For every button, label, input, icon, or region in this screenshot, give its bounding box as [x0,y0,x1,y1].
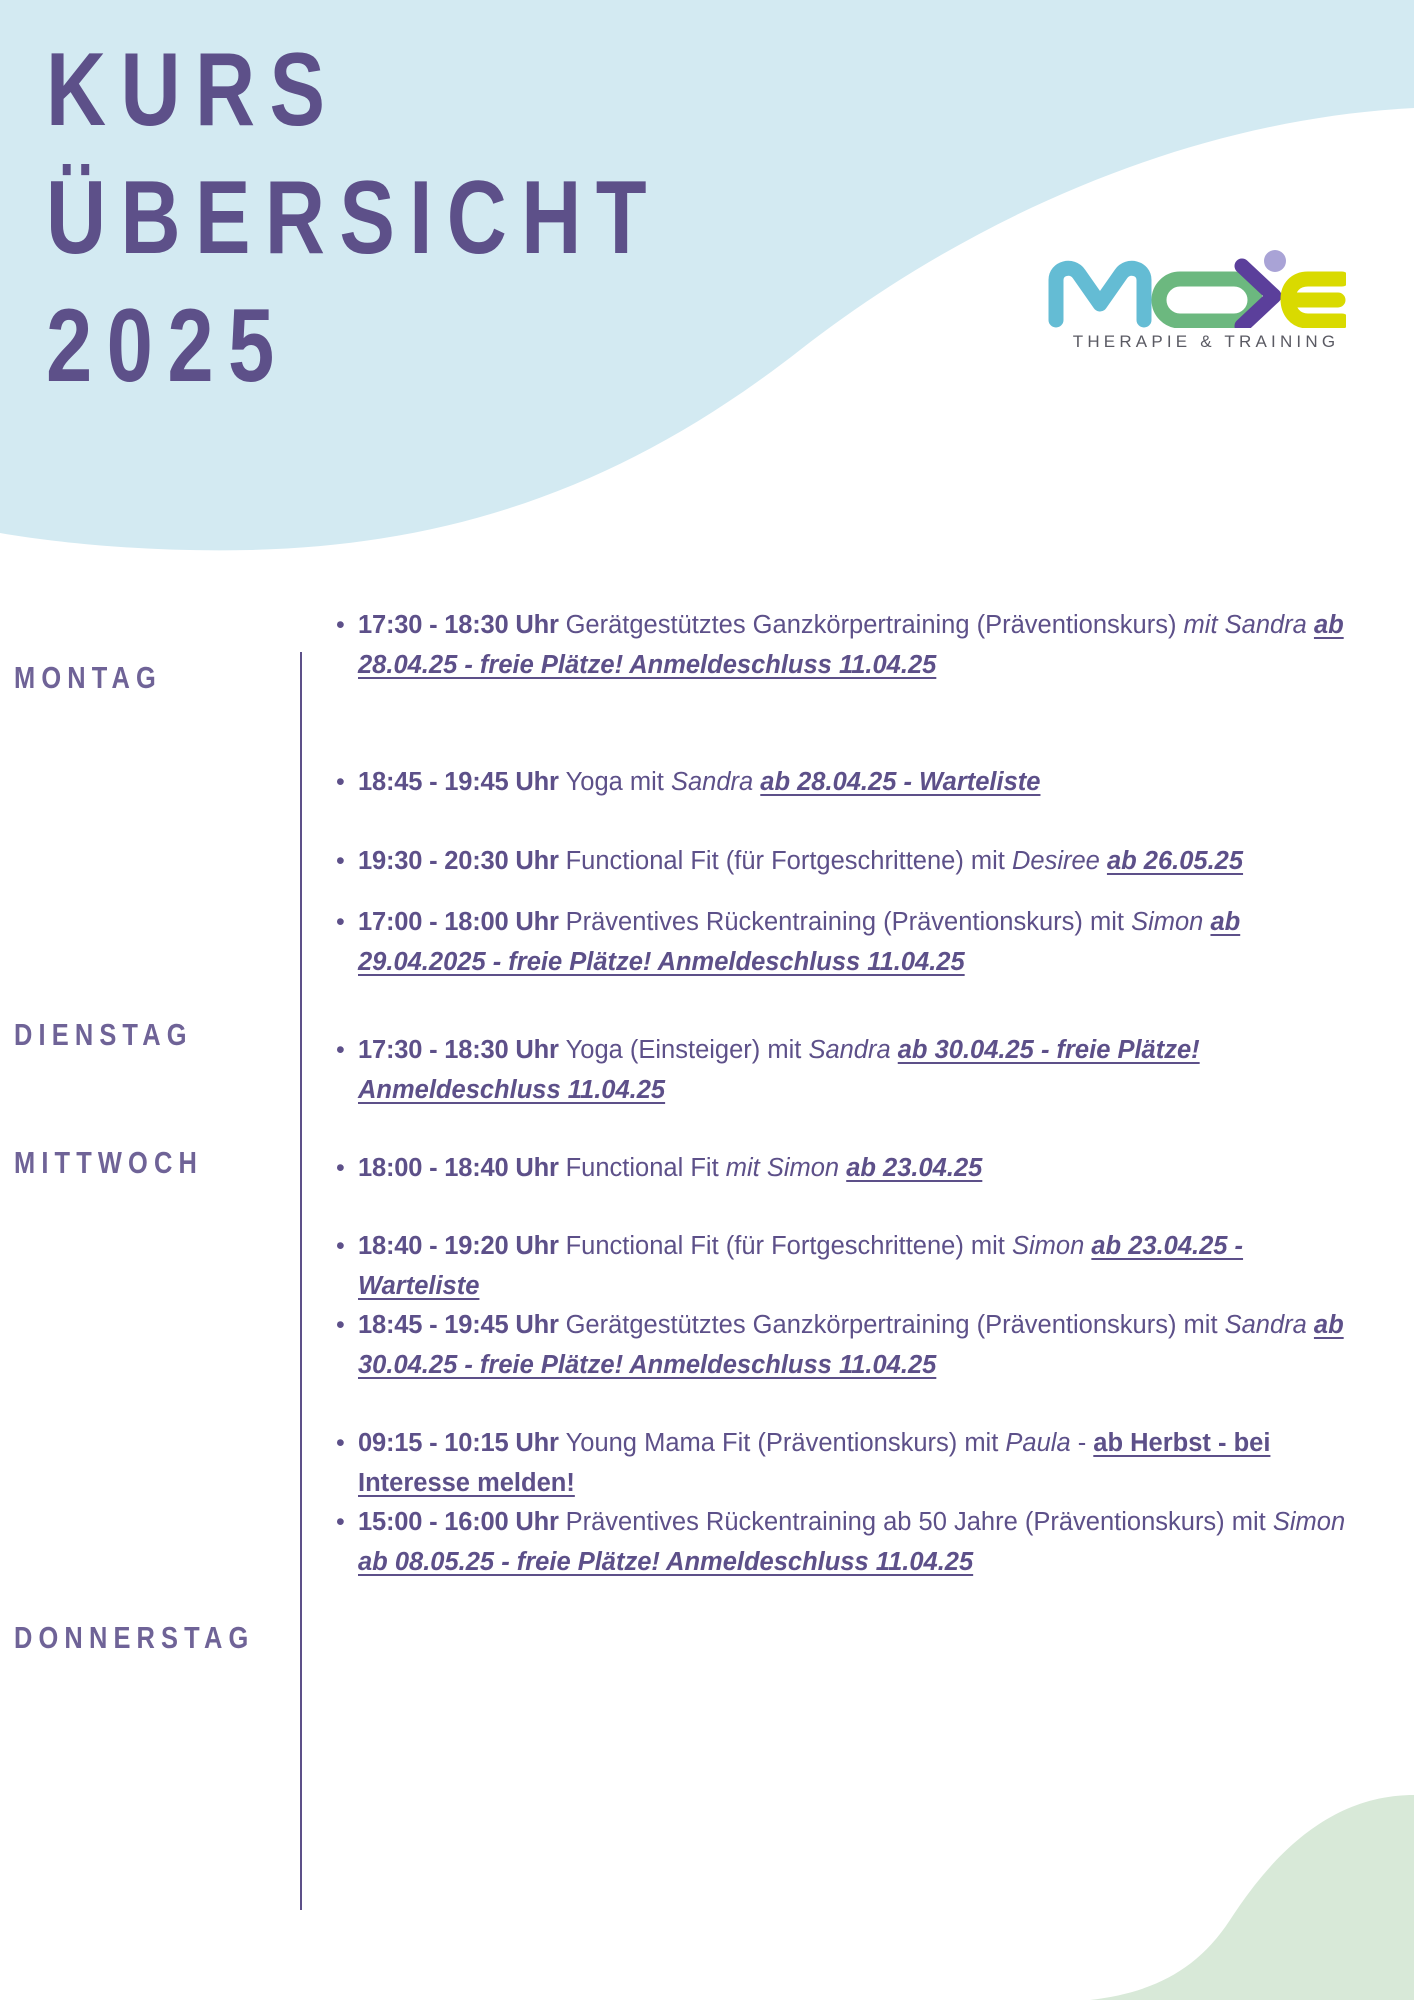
course-text-part: Paula [1005,1429,1077,1457]
logo-letter-m [1056,268,1144,320]
course-text-part: Simon [1012,1232,1091,1260]
bullet-icon: • [336,1424,345,1464]
day-label-mittwoch: MITTWOCH [14,1145,203,1181]
bullet-icon: • [336,1306,345,1346]
course-entry-text: 17:30 - 18:30 Uhr Yoga (Einsteiger) mit … [358,1031,1358,1110]
course-entry-text: 19:30 - 20:30 Uhr Functional Fit (für Fo… [358,842,1358,882]
course-text-part: 18:45 - 19:45 Uhr [358,768,566,796]
course-entry-text: 18:40 - 19:20 Uhr Functional Fit (für Fo… [358,1227,1358,1306]
course-text-part: Präventives Rückentraining ab 50 Jahre (… [566,1508,1273,1536]
course-entry: •15:00 - 16:00 Uhr Präventives Rückentra… [358,1503,1358,1582]
course-entry-text: 17:00 - 18:00 Uhr Präventives Rückentrai… [358,903,1358,982]
move-logo: THERAPIE & TRAINING [1046,246,1366,366]
course-text-part: Sandra [1225,1311,1314,1339]
course-text-part: 09:15 - 10:15 Uhr [358,1429,566,1457]
course-text-part: 18:00 - 18:40 Uhr [358,1154,566,1182]
day-label-montag: MONTAG [14,660,162,696]
course-entry: •17:30 - 18:30 Uhr Gerätgestütztes Ganzk… [358,606,1358,685]
course-text-part: Gerätgestütztes Ganzkörpertraining (Präv… [566,611,1184,639]
page-title: KURS ÜBERSICHT 2025 [46,26,815,410]
course-text-part: 15:00 - 16:00 Uhr [358,1508,566,1536]
course-text-part: Functional Fit (für Fortgeschrittene) mi… [566,1232,1012,1260]
course-text-part: Sandra [671,768,760,796]
logo-dot-icon [1264,250,1286,272]
poster-header: KURS ÜBERSICHT 2025 THERAPIE & TRAINING [0,0,1414,560]
course-entry: •18:40 - 19:20 Uhr Functional Fit (für F… [358,1227,1358,1306]
course-text-part: Desiree [1012,847,1107,875]
course-text-part: Präventives Rückentraining (Präventionsk… [566,908,1131,936]
course-text-part: Gerätgestütztes Ganzkörpertraining (Präv… [566,1311,1225,1339]
bullet-icon: • [336,1227,345,1267]
bullet-icon: • [336,1031,345,1071]
course-text-part: 18:45 - 19:45 Uhr [358,1311,566,1339]
course-text-part: mit Simon [726,1154,846,1182]
move-logo-mark [1046,246,1346,328]
day-label-donnerstag: DONNERSTAG [14,1620,254,1656]
bullet-icon: • [336,1149,345,1189]
course-entry: •19:30 - 20:30 Uhr Functional Fit (für F… [358,842,1358,882]
course-entry: •09:15 - 10:15 Uhr Young Mama Fit (Präve… [358,1424,1358,1503]
course-text-part: 17:30 - 18:30 Uhr [358,1036,566,1064]
logo-letter-o [1159,279,1255,321]
course-text-part[interactable]: ab 23.04.25 [846,1154,982,1182]
course-entry-text: 15:00 - 16:00 Uhr Präventives Rückentrai… [358,1503,1358,1582]
course-entry: •17:30 - 18:30 Uhr Yoga (Einsteiger) mit… [358,1031,1358,1110]
title-line-2: ÜBERSICHT [46,154,661,282]
course-text-part: mit Sandra [1184,611,1314,639]
title-line-3: 2025 [46,282,661,410]
course-text-part: - [1078,1429,1094,1457]
course-text-part[interactable]: ab 08.05.25 - freie Plätze! Anmeldeschlu… [358,1548,973,1576]
course-entry: •18:45 - 19:45 Uhr Yoga mit Sandra ab 28… [358,763,1358,803]
course-text-part: 19:30 - 20:30 Uhr [358,847,566,875]
bullet-icon: • [336,842,345,882]
course-text-part: Yoga mit [566,768,671,796]
bullet-icon: • [336,903,345,943]
course-text-part: Sandra [808,1036,897,1064]
course-entry: •18:45 - 19:45 Uhr Gerätgestütztes Ganzk… [358,1306,1358,1385]
course-entry-text: 18:45 - 19:45 Uhr Yoga mit Sandra ab 28.… [358,763,1358,803]
course-entry-text: 18:45 - 19:45 Uhr Gerätgestütztes Ganzkö… [358,1306,1358,1385]
course-entry: •18:00 - 18:40 Uhr Functional Fit mit Si… [358,1149,1358,1189]
course-text-part: Young Mama Fit (Präventionskurs) mit [566,1429,1006,1457]
course-text-part: 17:30 - 18:30 Uhr [358,611,566,639]
course-entry: •17:00 - 18:00 Uhr Präventives Rückentra… [358,903,1358,982]
course-text-part: 17:00 - 18:00 Uhr [358,908,566,936]
vertical-divider [300,652,302,1910]
corner-green-wave-shape [1090,1795,1414,2000]
course-text-part[interactable]: ab 28.04.25 - Warteliste [760,768,1040,796]
course-text-part: Simon [1131,908,1210,936]
course-text-part: Functional Fit [566,1154,726,1182]
course-entry-text: 09:15 - 10:15 Uhr Young Mama Fit (Präven… [358,1424,1358,1503]
title-line-1: KURS [46,26,661,154]
logo-letter-e [1288,279,1342,321]
course-text-part: Functional Fit (für Fortgeschrittene) mi… [566,847,1012,875]
course-entry-text: 17:30 - 18:30 Uhr Gerätgestütztes Ganzkö… [358,606,1358,685]
logo-tagline: THERAPIE & TRAINING [1046,332,1366,352]
bullet-icon: • [336,606,345,646]
course-text-part: 18:40 - 19:20 Uhr [358,1232,566,1260]
bullet-icon: • [336,763,345,803]
course-text-part: Yoga (Einsteiger) mit [566,1036,809,1064]
bullet-icon: • [336,1503,345,1543]
course-text-part[interactable]: ab 26.05.25 [1107,847,1243,875]
day-label-dienstag: DIENSTAG [14,1017,193,1053]
course-text-part: Simon [1273,1508,1345,1536]
course-entry-text: 18:00 - 18:40 Uhr Functional Fit mit Sim… [358,1149,1358,1189]
